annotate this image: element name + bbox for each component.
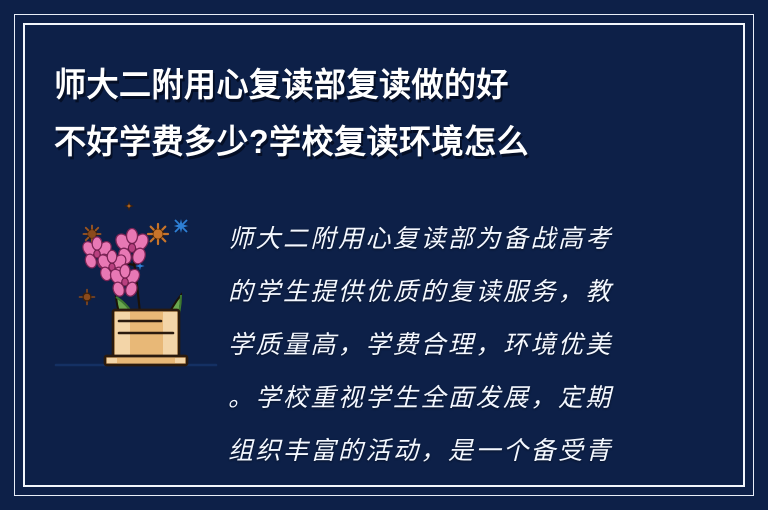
- body-line-2: 的学生提供优质的复读服务，教: [228, 265, 676, 318]
- page-title: 师大二附用心复读部复读做的好 不好学费多少?学校复读环境怎么: [54, 56, 714, 170]
- body-line-4: 。学校重视学生全面发展，定期: [228, 371, 676, 424]
- body-paragraph: 师大二附用心复读部为备战高考 的学生提供优质的复读服务，教 学质量高，学费合理，…: [228, 212, 676, 477]
- sparkle-orange-icon: [125, 202, 133, 210]
- body-line-3: 学质量高，学费合理，环境优美: [228, 318, 676, 371]
- wooden-planter-pot: [105, 310, 187, 365]
- body-line-5: 组织丰富的活动，是一个备受青: [228, 424, 676, 477]
- potted-orchid-illustration: [50, 193, 222, 375]
- sparkle-blue-icon: [172, 217, 190, 235]
- sparkle-orange-dot-icon: [80, 290, 95, 305]
- body-line-1: 师大二附用心复读部为备战高考: [228, 212, 676, 265]
- poster-canvas: 师大二附用心复读部复读做的好 不好学费多少?学校复读环境怎么: [0, 0, 768, 510]
- title-line-1: 师大二附用心复读部复读做的好: [54, 56, 694, 113]
- title-line-2: 不好学费多少?学校复读环境怎么: [54, 113, 694, 170]
- sparkle-orange-burst-icon: [148, 224, 168, 244]
